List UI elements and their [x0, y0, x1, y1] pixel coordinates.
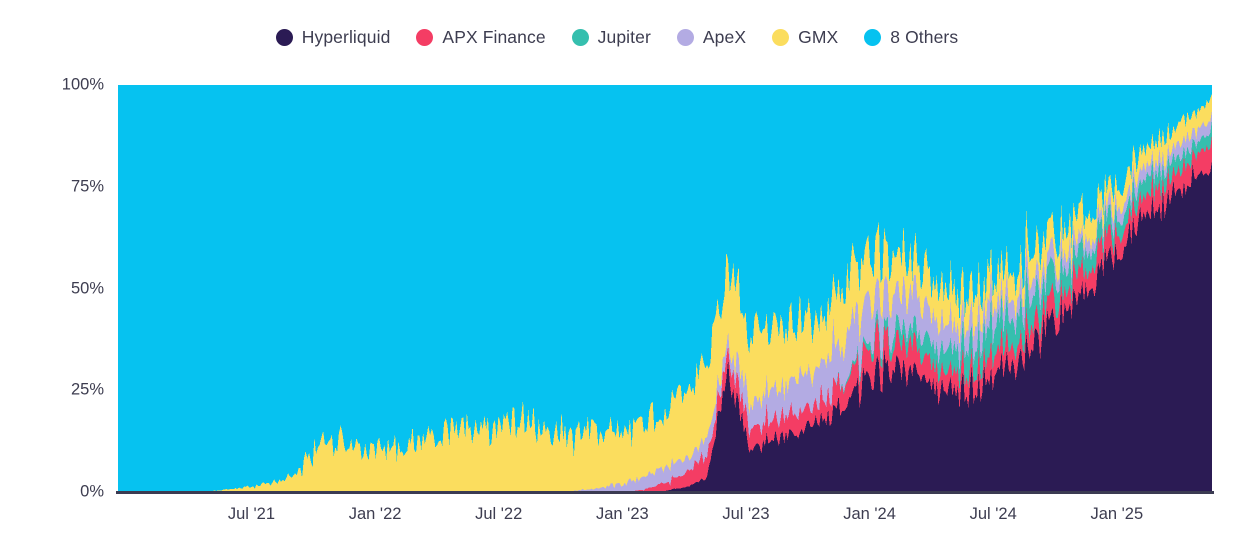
x-axis: Jul '21Jan '22Jul '22Jan '23Jul '23Jan '…: [0, 505, 1234, 535]
plot-area: [118, 85, 1212, 492]
legend-item-label: 8 Others: [890, 27, 958, 48]
legend-item-label: ApeX: [703, 27, 746, 48]
y-axis: 0%25%50%75%100%: [0, 0, 104, 540]
y-axis-tick-label: 75%: [4, 177, 104, 196]
y-axis-tick-label: 0%: [4, 483, 104, 502]
x-axis-tick-label: Jul '24: [970, 505, 1017, 524]
legend-dot-icon: [276, 29, 293, 46]
y-axis-tick-label: 50%: [4, 279, 104, 298]
legend-item-hyperliquid[interactable]: Hyperliquid: [276, 27, 391, 48]
legend-item-apx-finance[interactable]: APX Finance: [416, 27, 545, 48]
x-axis-tick-label: Jul '22: [475, 505, 522, 524]
legend-item-label: Jupiter: [598, 27, 651, 48]
x-axis-tick-label: Jan '23: [596, 505, 649, 524]
legend-item-label: Hyperliquid: [302, 27, 391, 48]
legend-dot-icon: [572, 29, 589, 46]
y-axis-tick-label: 100%: [4, 76, 104, 95]
legend-item-label: APX Finance: [442, 27, 545, 48]
legend-item-gmx[interactable]: GMX: [772, 27, 838, 48]
x-axis-tick-label: Jan '25: [1090, 505, 1143, 524]
stacked-area-svg: [118, 85, 1212, 492]
x-axis-tick-label: Jul '23: [722, 505, 769, 524]
x-axis-tick-label: Jul '21: [228, 505, 275, 524]
x-axis-tick-label: Jan '22: [349, 505, 402, 524]
legend-dot-icon: [864, 29, 881, 46]
legend-dot-icon: [416, 29, 433, 46]
chart-legend: HyperliquidAPX FinanceJupiterApeXGMX8 Ot…: [0, 22, 1234, 52]
legend-dot-icon: [772, 29, 789, 46]
legend-item-label: GMX: [798, 27, 838, 48]
y-axis-tick-label: 25%: [4, 381, 104, 400]
x-axis-tick-label: Jan '24: [843, 505, 896, 524]
market-share-chart: HyperliquidAPX FinanceJupiterApeXGMX8 Ot…: [0, 0, 1234, 540]
legend-dot-icon: [677, 29, 694, 46]
legend-item-jupiter[interactable]: Jupiter: [572, 27, 651, 48]
legend-item-8-others[interactable]: 8 Others: [864, 27, 958, 48]
x-axis-line: [116, 491, 1214, 494]
legend-item-apex[interactable]: ApeX: [677, 27, 746, 48]
